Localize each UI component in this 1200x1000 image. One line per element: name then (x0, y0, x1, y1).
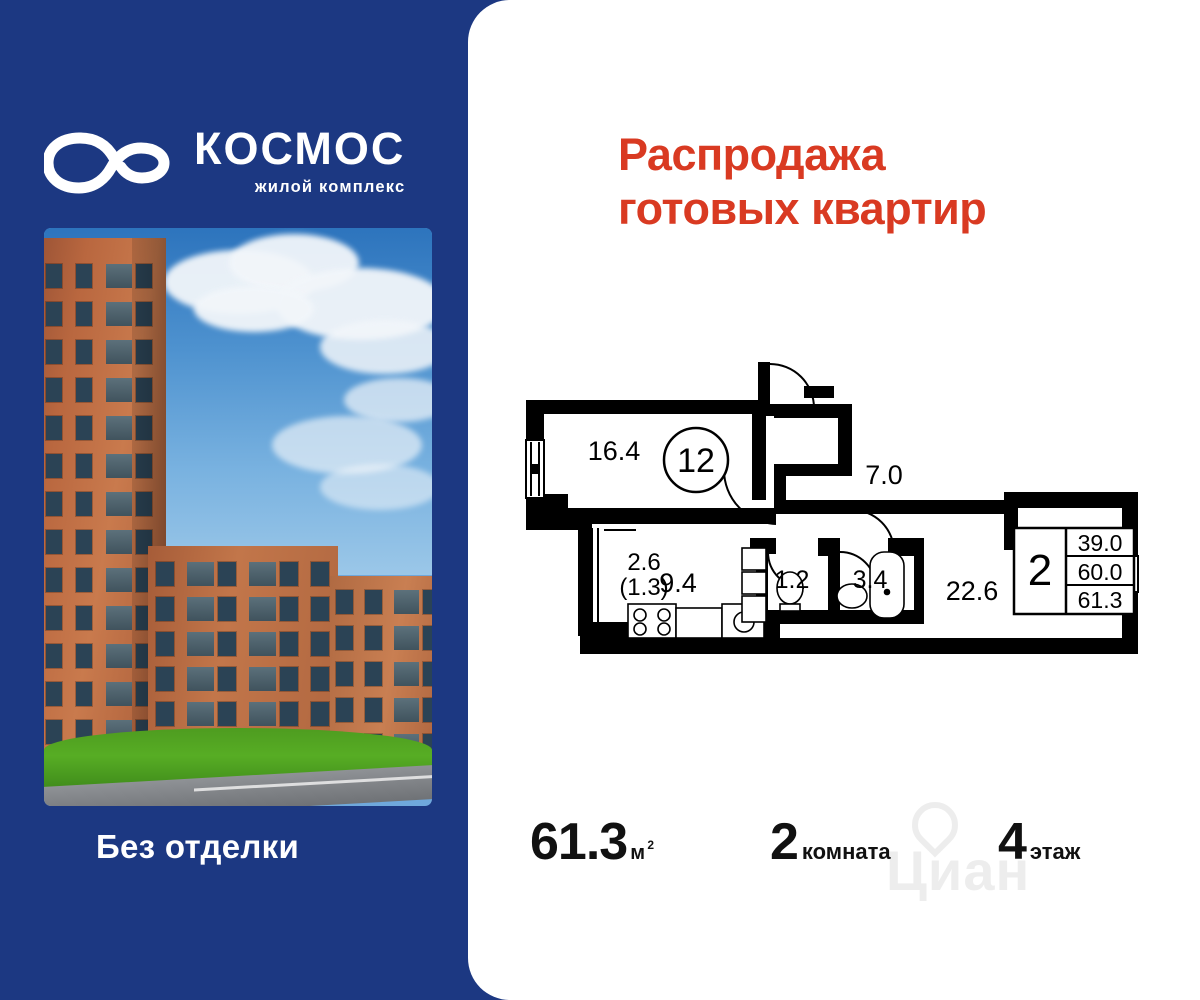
window-pane (76, 568, 92, 592)
finishing-caption: Без отделки (96, 828, 299, 866)
window-pane (76, 644, 92, 668)
brand-logo: КОСМОС жилой комплекс (44, 124, 444, 210)
window-pane (394, 590, 419, 614)
window-pane (311, 597, 329, 621)
window-pane (136, 454, 152, 478)
window-pane (336, 626, 353, 650)
window-pane (106, 606, 132, 630)
window-pane (46, 340, 62, 364)
legend-total-area: 61.3 (1078, 587, 1123, 613)
area-label-bath: 3.4 (853, 566, 888, 594)
window-pane (76, 416, 92, 440)
window-pane (280, 597, 298, 621)
window-pane (365, 662, 382, 686)
window-pane (46, 568, 62, 592)
brand-text: КОСМОС жилой комплекс (194, 124, 405, 198)
summary-rooms-value: 2 (770, 813, 798, 871)
window-pane (106, 454, 132, 478)
window-pane (394, 662, 419, 686)
window-pane (46, 302, 62, 326)
summary-floor: 4этаж (998, 812, 1080, 872)
listing-card: Распродажа готовых квартир (468, 0, 1200, 1000)
window-pane (365, 626, 382, 650)
window-pane (249, 562, 276, 586)
window-pane (136, 340, 152, 364)
window-pane (76, 454, 92, 478)
area-label-kitchen: 9.4 (659, 568, 697, 598)
window-pane (136, 492, 152, 516)
summary-area-value: 61.3 (530, 813, 627, 871)
legend-living-area: 39.0 (1078, 530, 1123, 556)
window-pane (156, 597, 174, 621)
window-pane (423, 590, 432, 614)
window-pane (136, 264, 152, 288)
area-label-living: 22.6 (946, 576, 999, 606)
window-pane (249, 597, 276, 621)
window-pane (106, 492, 132, 516)
window-pane (249, 632, 276, 656)
promo-headline: Распродажа готовых квартир (618, 128, 1178, 236)
window-pane (46, 606, 62, 630)
window-pane (187, 632, 214, 656)
listing-summary: 61.3м2 2комната 4этаж (468, 812, 1200, 892)
window-pane (136, 302, 152, 326)
brand-tagline: жилой комплекс (194, 176, 405, 198)
window-pane (106, 416, 132, 440)
area-label-hall: 7.0 (865, 460, 903, 490)
window-pane (46, 492, 62, 516)
window-pane (106, 568, 132, 592)
summary-rooms-label: комната (802, 839, 891, 864)
window-pane (187, 702, 214, 726)
window-pane (280, 632, 298, 656)
window-pane (76, 378, 92, 402)
window-pane (106, 682, 132, 706)
floor-plan: 16.4 2.6 (1.3) 9.4 7.0 1.2 3.4 22.6 12 (518, 352, 1178, 702)
window-pane (311, 562, 329, 586)
window-pane (76, 530, 92, 554)
summary-area-unit: м2 (630, 842, 645, 864)
summary-floor-label: этаж (1030, 839, 1080, 864)
window-pane (106, 302, 132, 326)
window-pane (106, 264, 132, 288)
window-pane (311, 632, 329, 656)
summary-area: 61.3м2 (530, 812, 645, 872)
window-pane (218, 562, 236, 586)
cloud-shape (194, 286, 314, 332)
summary-rooms: 2комната (770, 812, 891, 872)
window-pane (136, 378, 152, 402)
window-pane (46, 378, 62, 402)
legend-area-no-balcony: 60.0 (1078, 559, 1123, 585)
window-pane (76, 264, 92, 288)
window-pane (311, 702, 329, 726)
window-pane (280, 667, 298, 691)
window-pane (218, 597, 236, 621)
window-pane (156, 702, 174, 726)
window-pane (423, 626, 432, 650)
window-pane (106, 340, 132, 364)
window-pane (249, 667, 276, 691)
window-pane (394, 698, 419, 722)
road-marking (194, 774, 432, 792)
window-pane (311, 667, 329, 691)
window-pane (336, 590, 353, 614)
window-pane (249, 702, 276, 726)
apartment-number-badge: 12 (664, 428, 728, 492)
window-pane (365, 590, 382, 614)
plan-legend: 2 39.0 60.0 61.3 (1014, 528, 1134, 614)
window-pane (76, 606, 92, 630)
window-pane (365, 698, 382, 722)
headline-line-1: Распродажа (618, 129, 885, 180)
building-photo (44, 228, 432, 806)
brand-name: КОСМОС (194, 124, 405, 174)
window-pane (46, 530, 62, 554)
window-pane (156, 632, 174, 656)
window-pane (280, 562, 298, 586)
window-pane (218, 632, 236, 656)
window-pane (106, 378, 132, 402)
left-brand-panel: КОСМОС жилой комплекс Без отделки (0, 0, 470, 1000)
window-pane (187, 562, 214, 586)
window-pane (76, 340, 92, 364)
window-pane (218, 667, 236, 691)
window-pane (423, 698, 432, 722)
window-pane (156, 562, 174, 586)
window-pane (423, 662, 432, 686)
window-pane (46, 644, 62, 668)
window-pane (76, 302, 92, 326)
apartment-number: 12 (677, 442, 715, 480)
summary-floor-value: 4 (998, 813, 1026, 871)
cloud-shape (320, 464, 432, 510)
area-label-balcony: 2.6 (627, 549, 660, 576)
window-pane (187, 597, 214, 621)
infinity-icon (44, 130, 178, 196)
window-pane (394, 626, 419, 650)
window-pane (336, 662, 353, 686)
window-pane (187, 667, 214, 691)
window-pane (336, 698, 353, 722)
window-pane (156, 667, 174, 691)
window-pane (218, 702, 236, 726)
area-label-wc: 1.2 (775, 566, 810, 594)
window-pane (280, 702, 298, 726)
window-pane (106, 530, 132, 554)
window-pane (46, 264, 62, 288)
legend-rooms-count: 2 (1028, 546, 1052, 595)
window-pane (76, 492, 92, 516)
window-pane (76, 682, 92, 706)
window-pane (46, 416, 62, 440)
window-pane (46, 454, 62, 478)
area-label-room: 16.4 (588, 436, 641, 466)
window-pane (136, 416, 152, 440)
window-pane (46, 682, 62, 706)
window-pane (106, 644, 132, 668)
headline-line-2: готовых квартир (618, 182, 1178, 236)
